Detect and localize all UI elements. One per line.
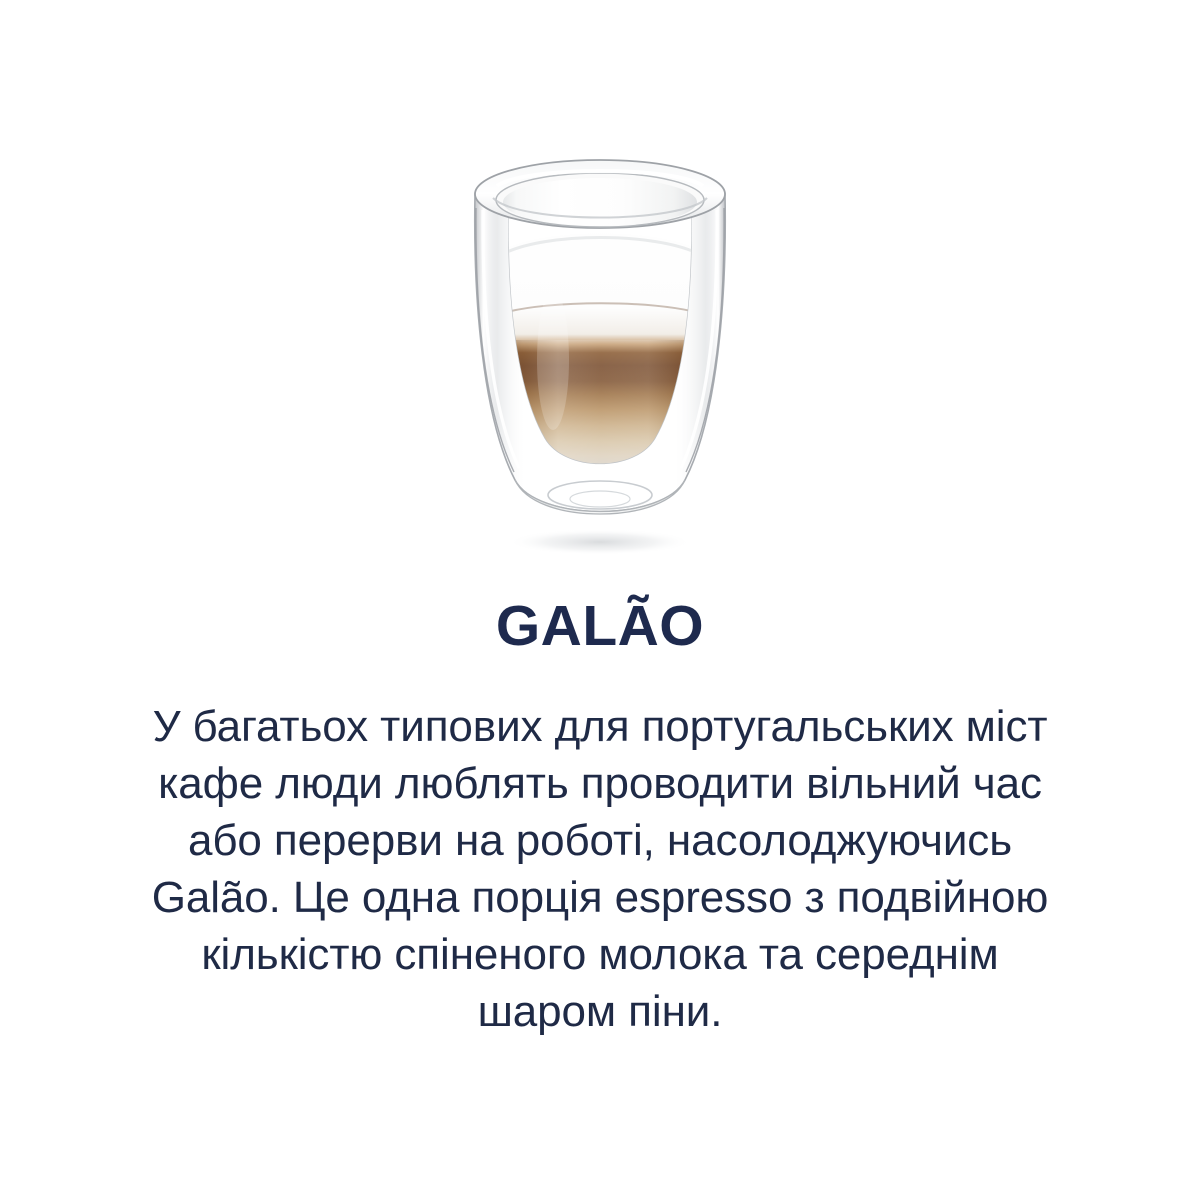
coffee-glass-illustration <box>445 150 755 570</box>
glass-shadow <box>508 529 692 555</box>
product-card: GALÃO У багатьох типових для португальсь… <box>0 0 1200 1200</box>
description-line: Galão. Це одна порція espresso з подвійн… <box>0 869 1200 926</box>
description-line: шаром піни. <box>0 983 1200 1040</box>
description-line: кількістю спіненого молока та середнім <box>0 926 1200 983</box>
liquid-highlight <box>537 290 569 430</box>
caption-block: GALÃO У багатьох типових для португальсь… <box>0 598 1200 1040</box>
description-line: кафе люди люблять проводити вільний час <box>0 755 1200 812</box>
description-line: або перерви на роботі, насолоджуючись <box>0 812 1200 869</box>
product-description: У багатьох типових для португальських мі… <box>0 698 1200 1040</box>
product-image-figure <box>0 150 1200 580</box>
page-title: GALÃO <box>0 598 1200 655</box>
milk-surface <box>503 178 697 226</box>
description-line: У багатьох типових для португальських мі… <box>0 698 1200 755</box>
